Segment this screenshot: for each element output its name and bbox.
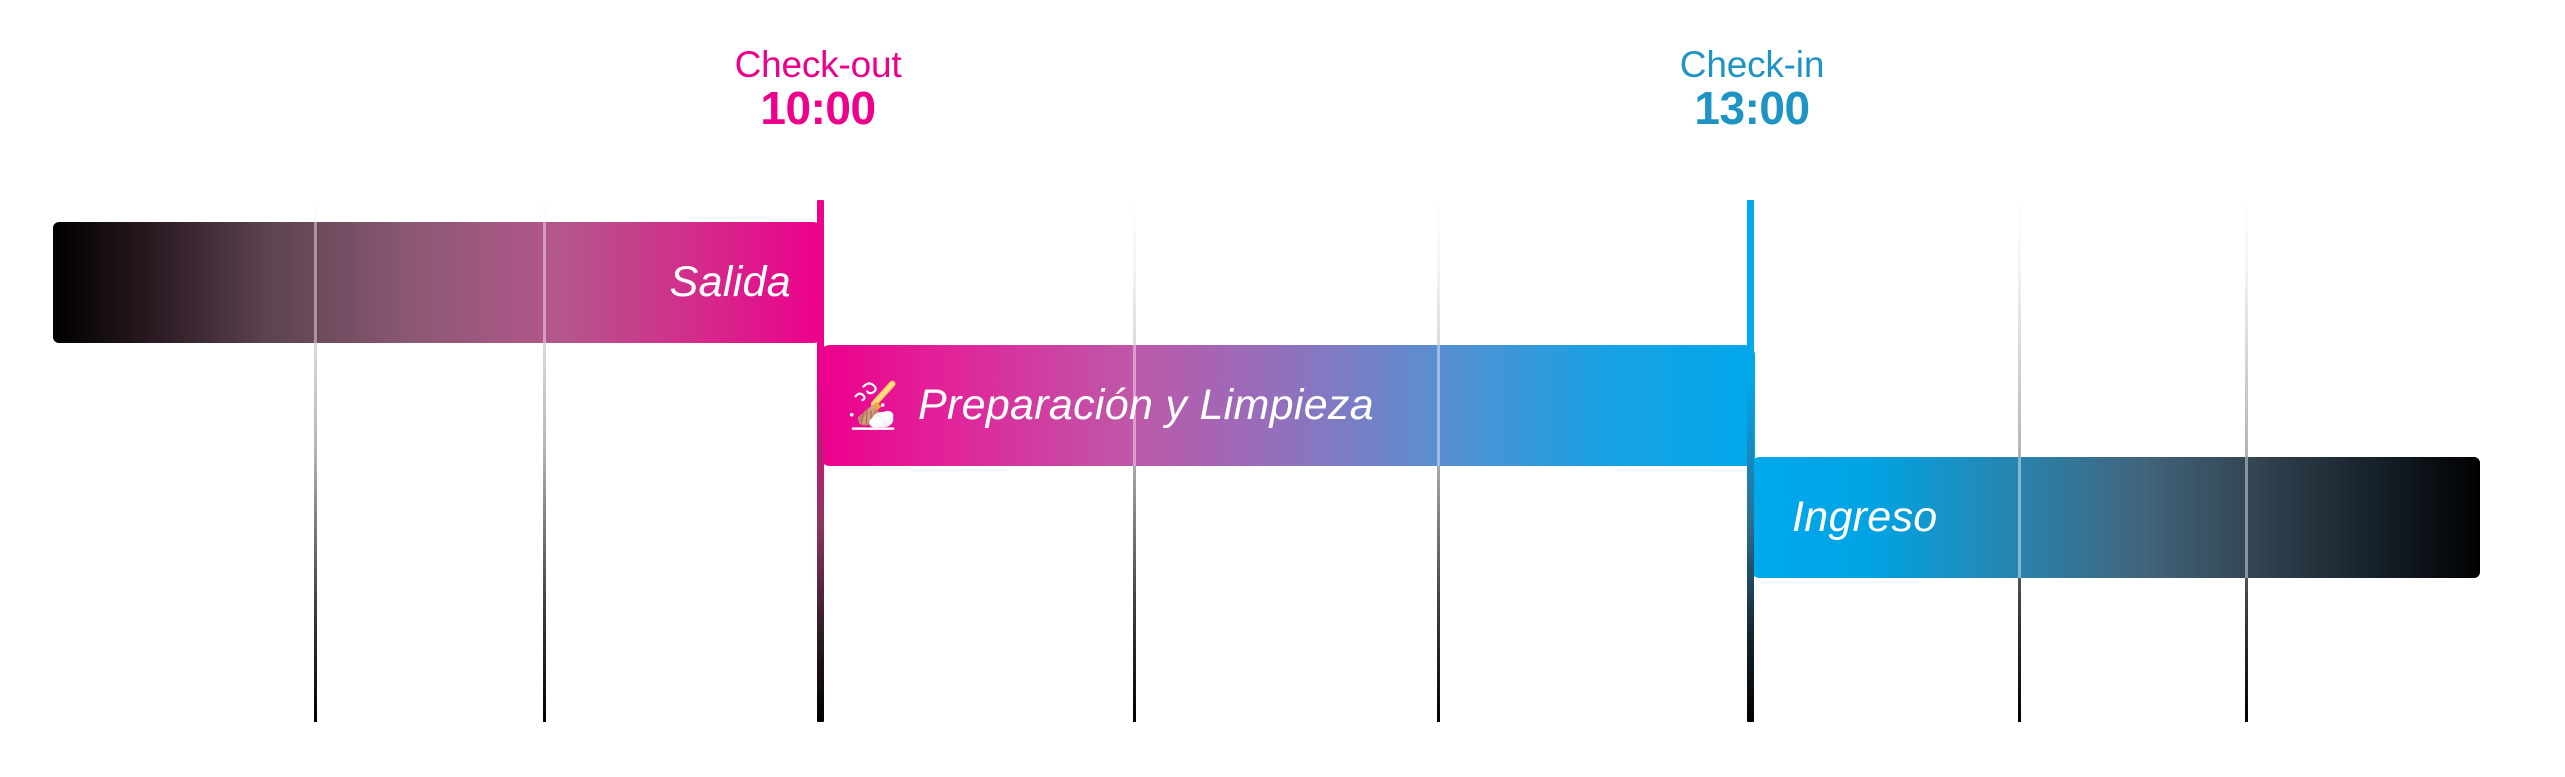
timeline-bar-preparacion[interactable]: Preparación y Limpieza <box>820 345 1755 466</box>
marker-line-checkin <box>1747 200 1754 722</box>
timeline-bar-salida[interactable]: Salida <box>53 222 823 343</box>
timeline-bar-ingreso-label: Ingreso <box>1792 493 1938 542</box>
timeline-canvas: Salida Preparación <box>0 0 2565 777</box>
broom-icon <box>842 375 904 437</box>
timeline-bar-ingreso[interactable]: Ingreso <box>1750 457 2480 578</box>
marker-caption-checkout: Check-out 10:00 <box>735 45 902 133</box>
timeline-bar-preparacion-label: Preparación y Limpieza <box>918 381 1374 430</box>
marker-checkout-title: Check-out <box>735 45 902 84</box>
marker-checkout-time: 10:00 <box>735 84 902 133</box>
marker-line-checkout <box>817 200 824 722</box>
marker-caption-checkin: Check-in 13:00 <box>1680 45 1824 133</box>
marker-checkin-title: Check-in <box>1680 45 1824 84</box>
marker-checkin-time: 13:00 <box>1680 84 1824 133</box>
timeline-bar-salida-label: Salida <box>670 258 791 307</box>
